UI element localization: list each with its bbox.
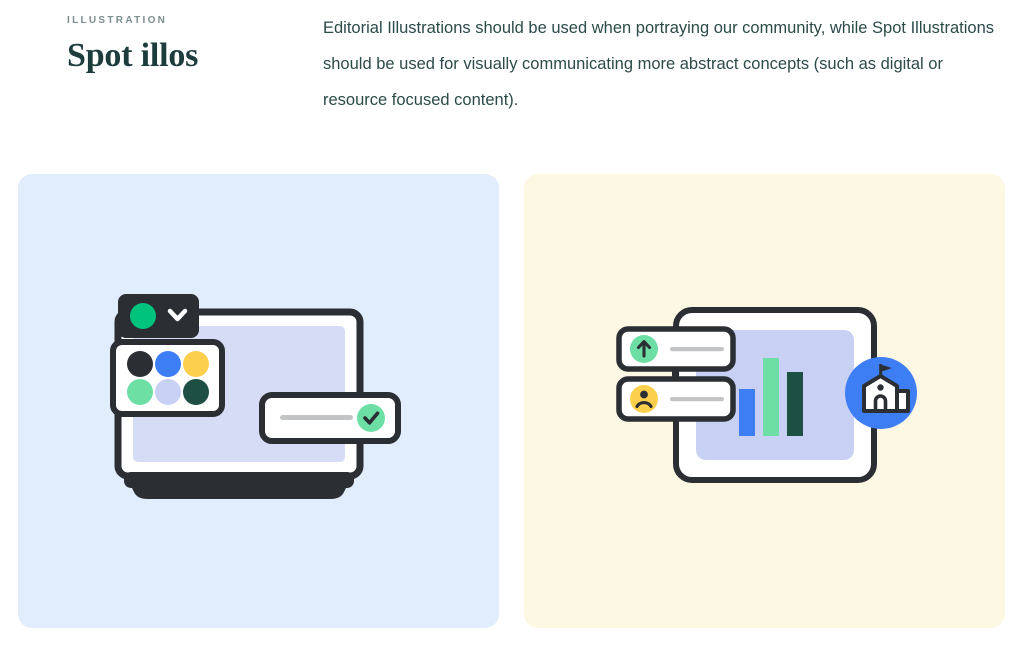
swatch-blue[interactable]: [155, 351, 181, 377]
bar-3: [787, 372, 803, 436]
laptop-color-picker-illustration: [18, 174, 499, 628]
header-description: Editorial Illustrations should be used w…: [323, 10, 999, 118]
green-dot-icon: [130, 303, 156, 329]
page-header: ILLUSTRATION Spot illos Editorial Illust…: [0, 0, 1024, 160]
list-item-line-1: [670, 347, 724, 351]
input-placeholder-line: [280, 415, 353, 420]
person-icon: [630, 385, 658, 413]
illustration-card-digital[interactable]: [18, 174, 499, 628]
check-circle-icon: [357, 404, 385, 432]
bar-1: [739, 389, 755, 436]
list-item-line-2: [670, 397, 724, 401]
illustration-card-resources[interactable]: [524, 174, 1005, 628]
swatch-dark-teal[interactable]: [183, 379, 209, 405]
tablet-dashboard-illustration: [524, 174, 1005, 628]
person-head-glyph: [640, 391, 648, 399]
bar-2: [763, 358, 779, 436]
swatch-yellow[interactable]: [183, 351, 209, 377]
eyebrow-label: ILLUSTRATION: [67, 14, 307, 28]
illustration-card-grid: [0, 174, 1024, 630]
school-wing-glyph: [897, 391, 908, 411]
school-window-glyph: [877, 384, 883, 390]
swatch-lavender[interactable]: [155, 379, 181, 405]
swatch-charcoal[interactable]: [127, 351, 153, 377]
header-title-block: ILLUSTRATION Spot illos: [67, 14, 307, 76]
page-title: Spot illos: [67, 36, 307, 76]
school-body-glyph: [864, 376, 897, 411]
laptop-base-top: [124, 472, 354, 488]
swatch-mint[interactable]: [127, 379, 153, 405]
